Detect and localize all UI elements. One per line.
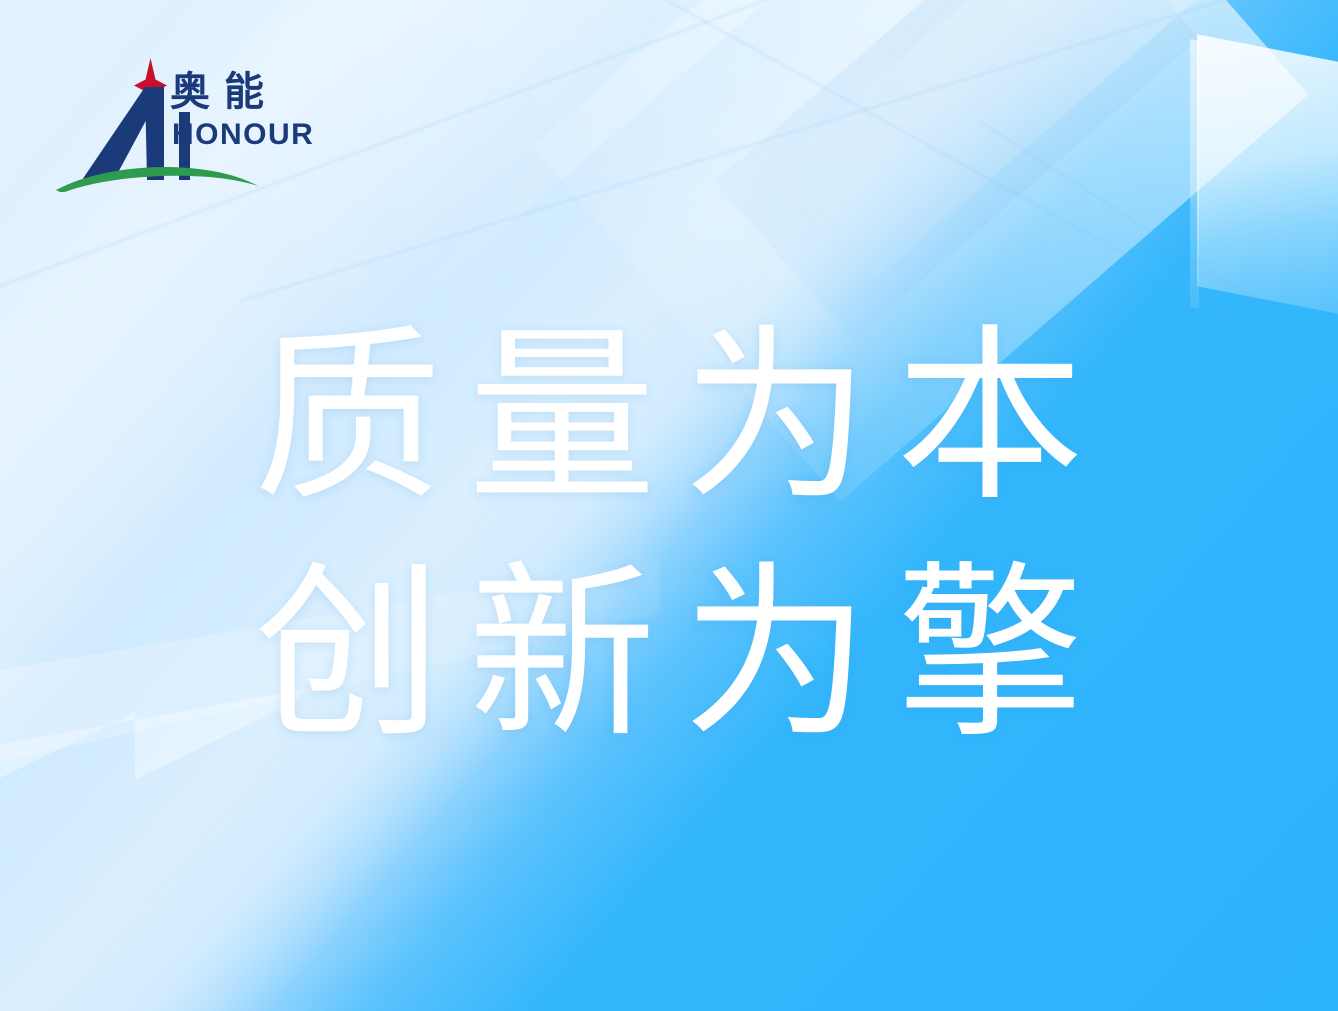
background-prism-shadow xyxy=(715,0,1200,340)
company-logo: 奥能 HONOUR xyxy=(52,56,304,192)
logo-a-right-stroke xyxy=(145,87,164,180)
slogan-banner: 奥能 HONOUR 质量为本 创新为擎 xyxy=(0,0,1338,1011)
slogan-line-1: 质量为本 xyxy=(0,300,1338,537)
slogan-block: 质量为本 创新为擎 xyxy=(0,300,1338,774)
logo-brand-en: HONOUR xyxy=(172,120,314,150)
background-hairline-3 xyxy=(240,0,1312,302)
background-prism-strip-3 xyxy=(748,0,1239,304)
slogan-line-2: 创新为擎 xyxy=(0,537,1338,774)
background-panel xyxy=(1197,34,1338,313)
logo-brand-cn: 奥能 xyxy=(170,72,278,112)
